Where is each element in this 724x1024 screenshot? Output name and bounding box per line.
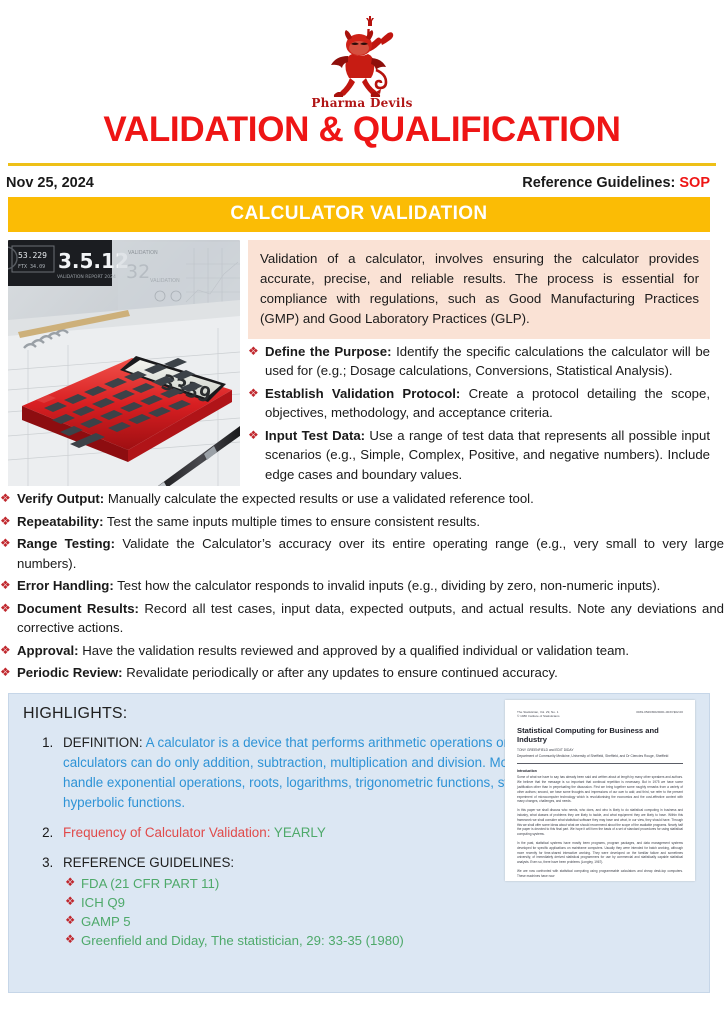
- frequency-label: Frequency of Calculator Validation:: [63, 825, 270, 840]
- reference-guidelines-list: FDA (21 CFR PART 11) ICH Q9 GAMP 5 Green…: [63, 875, 695, 950]
- list-item: ICH Q9: [63, 894, 695, 913]
- paper-paragraph: In this paper we shall discuss who needs…: [517, 808, 683, 837]
- reference-guidelines: Reference Guidelines: SOP: [522, 175, 710, 191]
- list-item: GAMP 5: [63, 913, 695, 932]
- list-item: Error Handling: Test how the calculator …: [0, 576, 724, 596]
- list-item: Range Testing: Validate the Calculator’s…: [0, 534, 724, 573]
- lower-steps-list: Verify Output: Manually calculate the ex…: [0, 489, 724, 683]
- section-banner: CALCULATOR VALIDATION: [8, 197, 710, 232]
- step-term: Verify Output:: [17, 491, 104, 506]
- list-item: Define the Purpose: Identify the specifi…: [248, 342, 710, 381]
- upper-steps-list: Define the Purpose: Identify the specifi…: [248, 342, 710, 485]
- reference-label: Reference Guidelines:: [522, 175, 675, 191]
- list-item: Document Results: Record all test cases,…: [0, 599, 724, 638]
- step-text: Test how the calculator responds to inva…: [114, 578, 661, 593]
- list-item: Establish Validation Protocol: Create a …: [248, 384, 710, 423]
- step-term: Approval:: [17, 643, 79, 658]
- svg-text:32: 32: [126, 261, 150, 283]
- step-term: Periodic Review:: [17, 665, 123, 680]
- brand-name: Pharma Devils: [310, 96, 414, 110]
- step-term: Repeatability:: [17, 514, 103, 529]
- svg-text:53.229: 53.229: [18, 251, 47, 260]
- brand-logo: Pharma Devils: [0, 0, 724, 108]
- step-text: Revalidate periodically or after any upd…: [123, 665, 558, 680]
- paper-authors: TONY GREENFIELD and EDIT DIDAY: [517, 748, 683, 753]
- list-item: Input Test Data: Use a range of test dat…: [248, 426, 710, 485]
- top-right-column: Validation of a calculator, involves ens…: [248, 240, 710, 484]
- paper-affiliation: Department of Community Medicine, Univer…: [517, 754, 683, 759]
- page-title: VALIDATION & QUALIFICATION: [0, 112, 724, 147]
- list-item: Approval: Have the validation results re…: [0, 641, 724, 661]
- devil-mascot-icon: [310, 16, 414, 108]
- definition-label: DEFINITION:: [63, 735, 143, 750]
- highlights-panel: HIGHLIGHTS: DEFINITION: A calculator is …: [8, 693, 710, 993]
- svg-text:VALIDATION REPORT 2024: VALIDATION REPORT 2024: [57, 274, 116, 280]
- paper-doi-line: 0039-0526/80/29001-0033 $02.00: [636, 710, 683, 719]
- paper-journal-line2: © 1980 Institute of Statisticians: [517, 714, 560, 719]
- calculator-photo: 53.229 FTX 34.09 3.5.12 VALIDATION REPOR…: [8, 240, 240, 486]
- statistical-computing-paper-thumbnail: The Statistician, Vol. 29, No. 1 © 1980 …: [505, 700, 695, 881]
- step-term: Range Testing:: [17, 536, 115, 551]
- frequency-value: YEARLY: [274, 825, 326, 840]
- svg-text:VALIDATION: VALIDATION: [128, 250, 158, 256]
- newsletter-page: Pharma Devils VALIDATION & QUALIFICATION…: [0, 0, 724, 1024]
- list-item: Repeatability: Test the same inputs mult…: [0, 512, 724, 532]
- paper-paragraph: We are now confronted with statistical c…: [517, 869, 683, 879]
- paper-divider: [517, 763, 683, 764]
- step-term: Define the Purpose:: [265, 344, 392, 359]
- paper-paragraph: In the past, statistical systems have mo…: [517, 841, 683, 865]
- step-text: Manually calculate the expected results …: [104, 491, 534, 506]
- step-term: Document Results:: [17, 601, 139, 616]
- intro-paragraph: Validation of a calculator, involves ens…: [248, 240, 710, 339]
- svg-text:FTX 34.09: FTX 34.09: [18, 264, 45, 270]
- reference-value: SOP: [679, 175, 710, 191]
- paper-paragraph: Some of what we have to say has already …: [517, 775, 683, 804]
- meta-row: Nov 25, 2024 Reference Guidelines: SOP: [0, 166, 724, 197]
- paper-section-heading: Introduction: [517, 769, 683, 773]
- reference-guidelines-label: REFERENCE GUIDELINES:: [63, 855, 234, 870]
- list-item: Periodic Review: Revalidate periodically…: [0, 663, 724, 683]
- step-term: Establish Validation Protocol:: [265, 386, 460, 401]
- step-term: Input Test Data:: [265, 428, 365, 443]
- publication-date: Nov 25, 2024: [6, 175, 94, 191]
- list-item: Greenfield and Diday, The statistician, …: [63, 932, 695, 951]
- list-item: Verify Output: Manually calculate the ex…: [0, 489, 724, 509]
- paper-title: Statistical Computing for Business and I…: [517, 726, 683, 745]
- step-term: Error Handling:: [17, 578, 114, 593]
- top-content: 53.229 FTX 34.09 3.5.12 VALIDATION REPOR…: [8, 240, 710, 486]
- svg-text:VALIDATION: VALIDATION: [150, 278, 180, 284]
- step-text: Have the validation results reviewed and…: [79, 643, 630, 658]
- paper-journal-meta: The Statistician, Vol. 29, No. 1 © 1980 …: [517, 710, 683, 719]
- step-text: Validate the Calculator’s accuracy over …: [17, 536, 724, 571]
- step-text: Test the same inputs multiple times to e…: [103, 514, 480, 529]
